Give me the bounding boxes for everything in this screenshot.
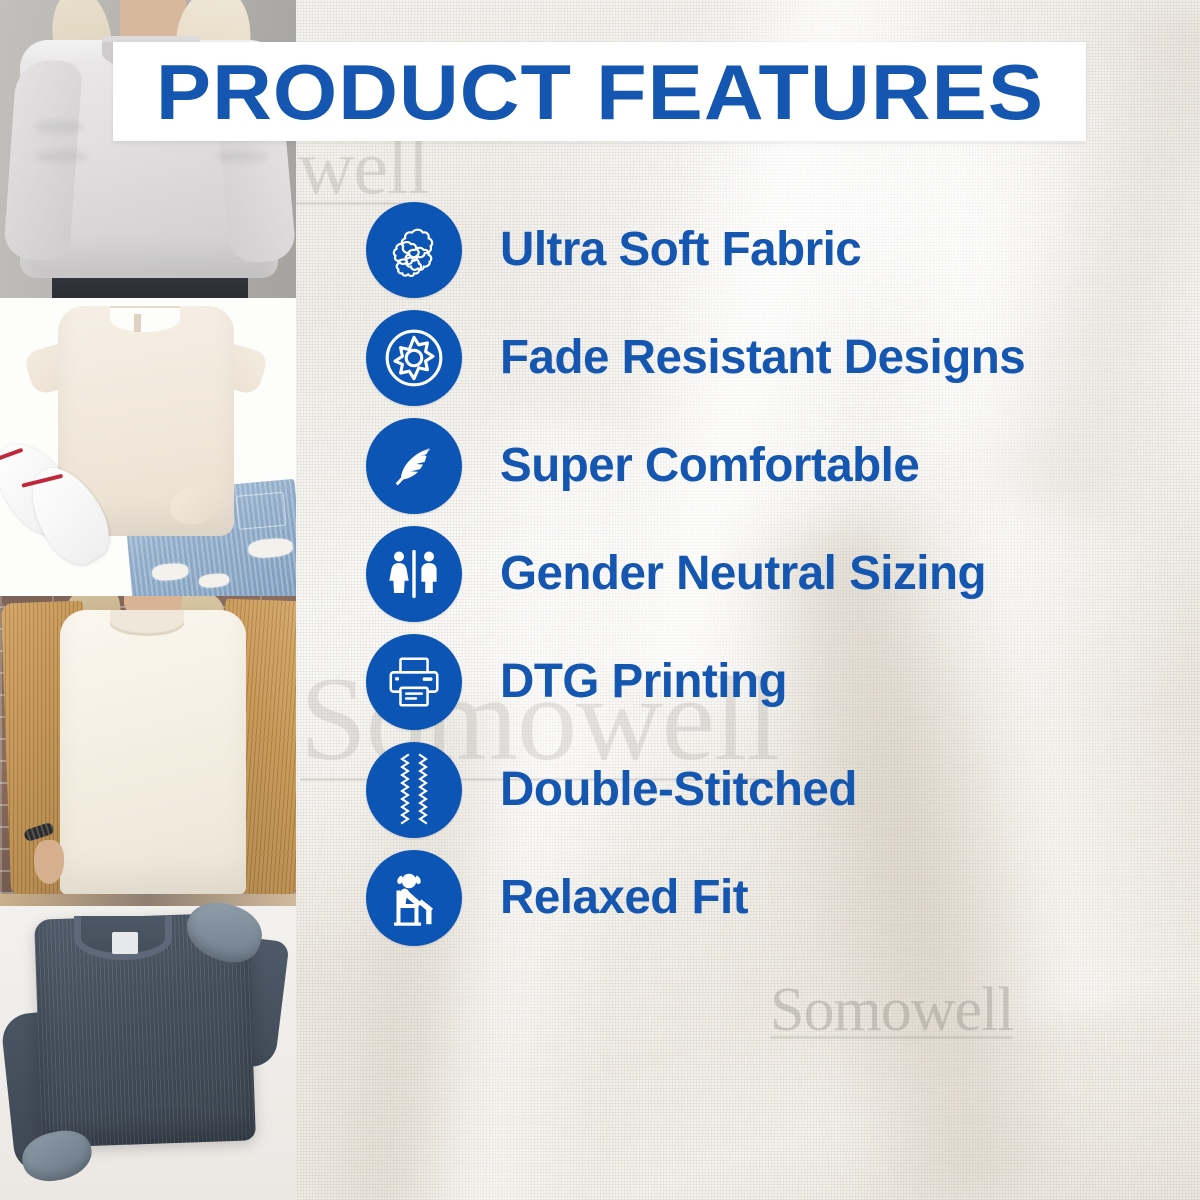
feature-label: Fade Resistant Designs [500, 334, 1025, 382]
tee-label-tag [134, 314, 141, 332]
feather-icon [366, 418, 462, 514]
photo-top-edge [0, 894, 296, 906]
feature-label: Gender Neutral Sizing [500, 550, 986, 598]
restroom-figures-icon [366, 526, 462, 622]
feature-item-dtg-printing: DTG Printing [366, 628, 1166, 736]
feature-item-ultra-soft-fabric: Ultra Soft Fabric [366, 196, 1166, 304]
feature-label: Double-Stitched [500, 766, 857, 814]
fabric-crease [36, 150, 88, 163]
denim-rip [248, 537, 293, 559]
fabric-crease [216, 150, 268, 163]
tee-neckline [110, 610, 184, 636]
sneaker-stripe [0, 448, 23, 465]
page-title: PRODUCT FEATURES [155, 53, 1043, 131]
photo-navy-sweatshirt-folded [0, 894, 296, 1200]
product-photo-column [0, 0, 296, 1200]
tee-neckline [110, 306, 180, 332]
photo-cream-tee-flatlay [0, 298, 296, 596]
brand-tag [112, 932, 138, 954]
person-relaxing-in-chair-icon [366, 850, 462, 946]
denim-rip [152, 562, 189, 581]
model-hand [34, 840, 64, 884]
feature-label: Ultra Soft Fabric [500, 226, 861, 274]
feature-label: DTG Printing [500, 658, 787, 706]
feature-label: Relaxed Fit [500, 874, 748, 922]
cotton-boll-icon [366, 202, 462, 298]
title-banner: PRODUCT FEATURES [113, 42, 1086, 141]
product-features-graphic: Somowell Somowell Somowell [0, 0, 1200, 1200]
feature-item-relaxed-fit: Relaxed Fit [366, 844, 1166, 952]
feature-item-super-comfortable: Super Comfortable [366, 412, 1166, 520]
feature-label: Super Comfortable [500, 442, 919, 490]
fabric-crease [34, 120, 84, 134]
feature-item-double-stitched: Double-Stitched [366, 736, 1166, 844]
sun-icon [366, 310, 462, 406]
shorts-pocket [236, 492, 287, 530]
denim-rip [199, 573, 230, 589]
feature-list: Ultra Soft Fabric Fade Resistant Designs [366, 196, 1166, 952]
zigzag-stitch-icon [366, 742, 462, 838]
feature-item-gender-neutral-sizing: Gender Neutral Sizing [366, 520, 1166, 628]
printer-icon [366, 634, 462, 730]
photo-ivory-tee-jacket-model [0, 596, 296, 894]
ivory-tshirt [60, 610, 246, 894]
feature-item-fade-resistant-designs: Fade Resistant Designs [366, 304, 1166, 412]
